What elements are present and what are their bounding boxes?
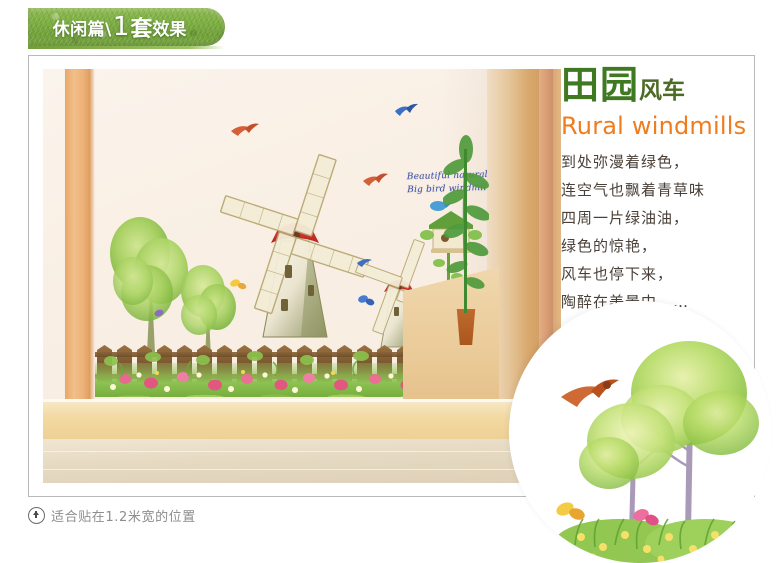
banner-underline [28,46,225,49]
content-frame: Beautiful natural scenery Big bird windm… [28,55,755,497]
poem-line: 绿色的惊艳， [561,232,766,260]
bird-flying-orange-2 [363,174,388,186]
banner-number: 1 [112,14,131,40]
tree-large [110,217,188,353]
poem-line: 风车也停下来， [561,260,766,288]
product-detail-page: 休闲篇\1套效果 [0,0,780,530]
description-column: 田园风车 Rural windmills 到处弥漫着绿色， 连空气也飘着青草味 … [561,63,766,316]
section-banner: 休闲篇\1套效果 [28,8,225,46]
door-frame-left [65,69,91,441]
poem-block: 到处弥漫着绿色， 连空气也飘着青草味 四周一片绿油油， 绿色的惊艳， 风车也停下… [561,148,766,316]
size-hint-text: 适合贴在1.2米宽的位置 [51,506,196,525]
product-title-cn: 田园风车 [561,63,766,113]
wainscot-band [43,399,561,444]
floor-tiles [43,439,561,483]
product-title-cn-small: 风车 [639,78,685,104]
poem-line: 到处弥漫着绿色， [561,148,766,176]
door-frame-edge [89,69,94,441]
product-title-cn-big: 田园 [561,63,639,107]
poem-line: 四周一片绿油油， [561,204,766,232]
vignette-scene-svg [509,301,771,563]
butterfly-yellow [229,278,247,290]
banner-suffix: 效果 [152,15,186,40]
poem-line: 连空气也飘着青草味 [561,176,766,204]
circle-up-arrow-icon [28,507,45,524]
size-hint: 适合贴在1.2米宽的位置 [28,505,196,525]
potted-plant-leaves [443,131,489,313]
room-photo: Beautiful natural scenery Big bird windm… [43,69,561,483]
banner-label: 休闲篇\1套效果 [28,8,211,46]
circular-vignette [509,301,771,563]
product-title-en: Rural windmills [561,112,766,140]
banner-prefix: 休闲篇\ [53,15,112,40]
butterfly-blue [357,294,375,306]
banner-mid: 套 [130,11,152,43]
bird-flying-blue-1 [395,104,418,116]
bird-flying-orange-1 [231,124,259,136]
vignette-grass [553,519,765,563]
